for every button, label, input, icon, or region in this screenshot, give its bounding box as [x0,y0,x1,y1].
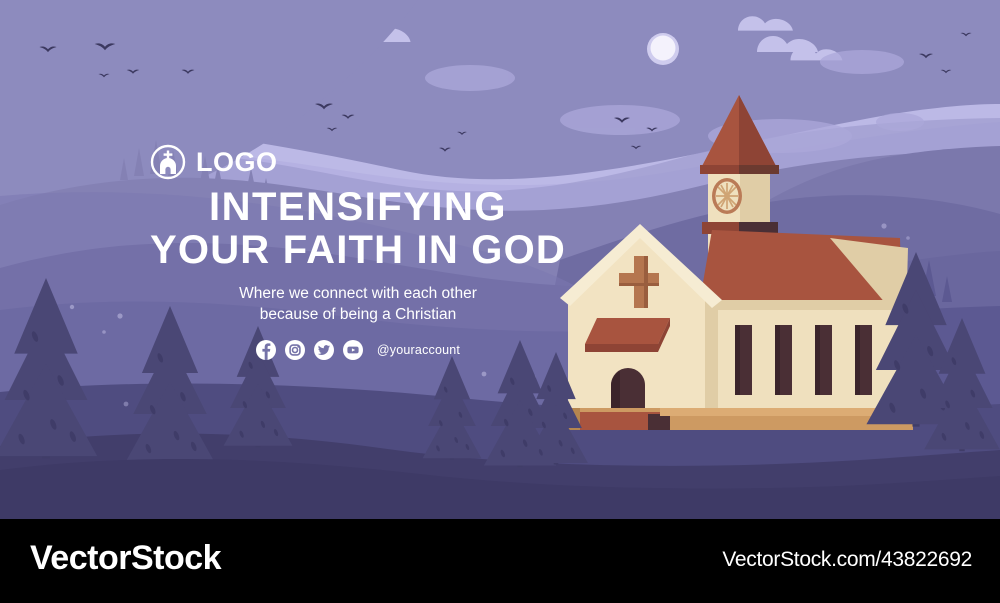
subtitle: Where we connect with each other because… [148,283,568,326]
instagram-icon[interactable] [285,340,305,360]
facebook-icon[interactable] [256,340,276,360]
headline-line-2: YOUR FAITH IN GOD [148,229,568,272]
logo-text: LOGO [196,149,278,176]
rose-window [712,178,742,214]
entrance-canopy [585,318,670,344]
page-title: INTENSIFYING YOUR FAITH IN GOD [148,186,568,272]
church-circle-logo-icon [150,144,186,180]
vectorstock-brand: VectorStock [30,541,221,575]
headline-line-1: INTENSIFYING [148,186,568,229]
social-handle: @youraccount [377,343,460,357]
vectorstock-url: VectorStock.com/43822692 [722,549,972,570]
subtitle-line-2: because of being a Christian [148,304,568,325]
watermark-bar: VectorStock VectorStock.com/43822692 [0,519,1000,603]
youtube-icon[interactable] [343,340,363,360]
logo[interactable]: LOGO [150,144,278,180]
twitter-icon[interactable] [314,340,334,360]
subtitle-line-1: Where we connect with each other [148,283,568,304]
vectorstock-preview: LOGO INTENSIFYING YOUR FAITH IN GOD Wher… [0,0,1000,603]
social-bar: @youraccount [148,340,568,360]
